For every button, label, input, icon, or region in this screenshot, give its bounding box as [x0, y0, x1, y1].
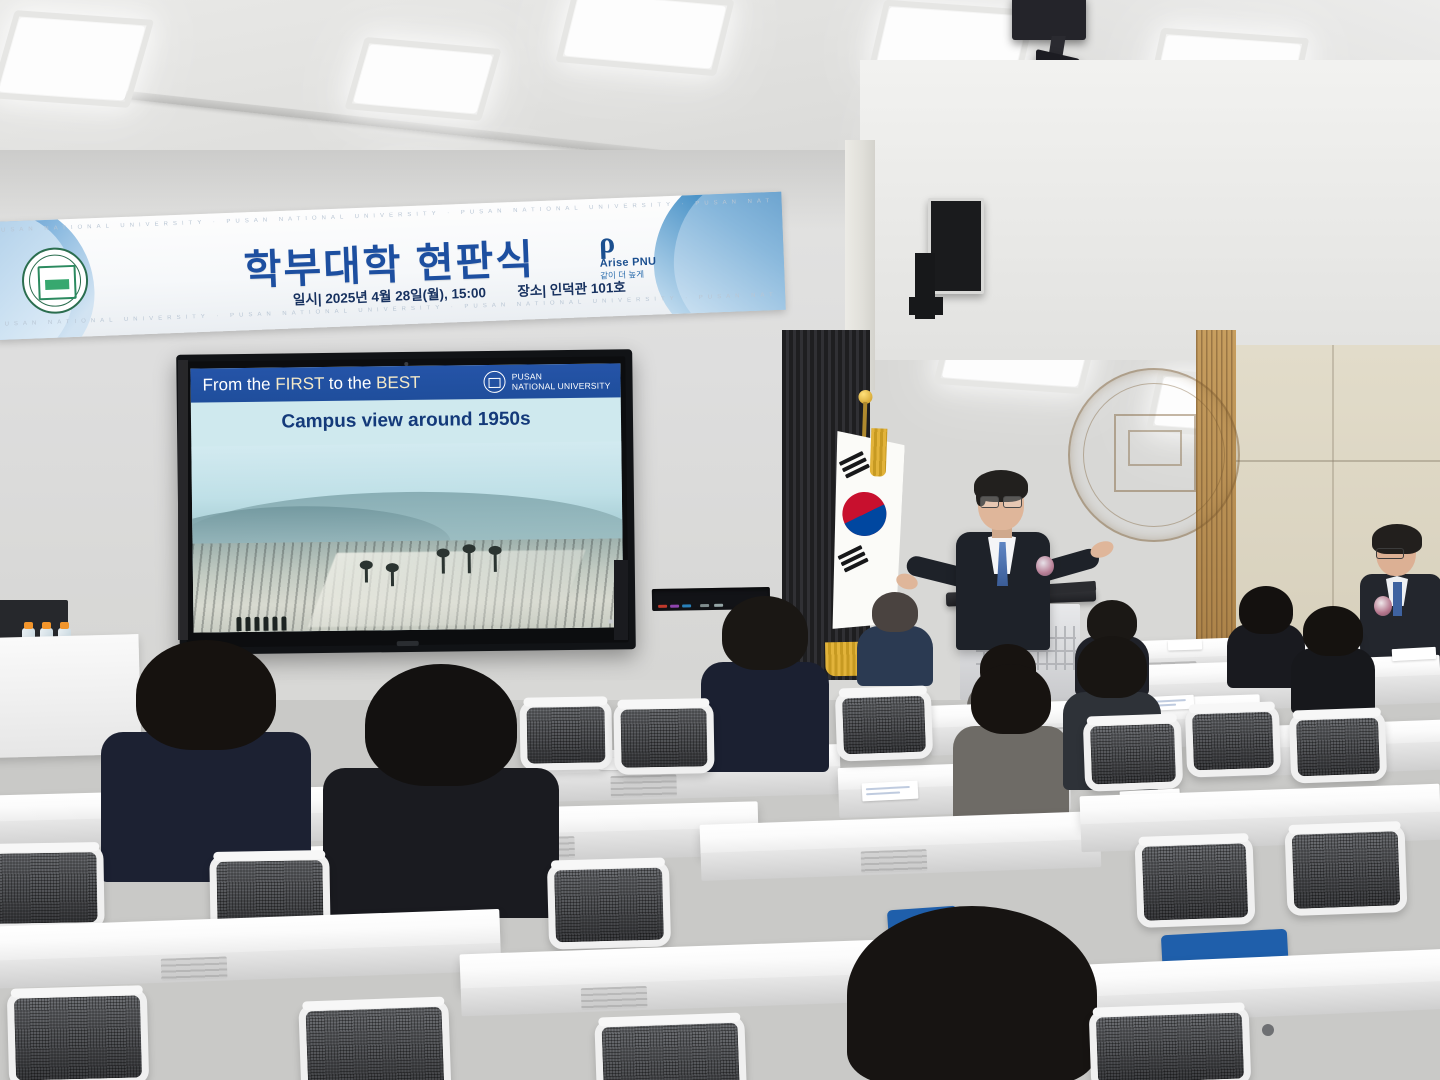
audience-hair — [722, 596, 808, 670]
speaker-bracket-base — [909, 297, 943, 315]
audience-member — [1290, 606, 1376, 710]
photo-tree — [365, 567, 368, 582]
desk-cable-module — [581, 986, 648, 1010]
mesh-back-chair[interactable] — [835, 688, 933, 761]
audience-member — [100, 640, 312, 870]
lecture-hall-photo: PUSAN NATIONAL UNIVERSITY · PUSAN NATION… — [0, 0, 1440, 1080]
chair-mesh — [1296, 718, 1380, 777]
slide-header-prefix: From the — [202, 375, 275, 395]
slide-photo — [191, 441, 623, 632]
slide-header-best: BEST — [376, 373, 421, 393]
mesh-back-chair[interactable] — [1083, 716, 1183, 791]
vip-glasses-icon — [1376, 548, 1404, 559]
display-side-mount — [178, 360, 188, 640]
photo-tree — [391, 571, 394, 587]
chair-back — [1285, 824, 1408, 916]
mesh-back-chair[interactable] — [7, 988, 149, 1080]
audience-hair — [365, 664, 517, 786]
mesh-back-chair[interactable] — [613, 701, 714, 775]
mesh-back-chair[interactable] — [1289, 710, 1387, 783]
chair-mesh — [0, 852, 98, 924]
university-name: PUSAN NATIONAL UNIVERSITY — [512, 370, 611, 391]
desk-paper — [862, 781, 919, 802]
banner-sep-1: | — [317, 291, 321, 306]
audience-member-foreground — [846, 906, 1098, 1080]
presenter-glasses-icon — [980, 496, 1022, 507]
chair-back — [1185, 704, 1281, 777]
flag-cord — [870, 428, 888, 477]
banner-date-label: 일시 — [293, 292, 318, 308]
chair-mesh — [1292, 831, 1401, 909]
chair-back — [613, 701, 714, 775]
chair-mesh — [1142, 843, 1249, 921]
audience-hair — [1239, 586, 1293, 634]
chair-mesh — [602, 1023, 741, 1080]
seal-mark — [37, 265, 76, 300]
chair-mesh — [14, 995, 142, 1080]
ceiling-light-panel — [564, 0, 726, 69]
desk-cable-module — [610, 774, 677, 798]
chair-back — [547, 860, 671, 949]
mesh-back-chair[interactable] — [298, 999, 451, 1080]
slide-header-bar: From the FIRST to the BEST PUSAN NATIONA… — [190, 363, 620, 402]
chair-mesh — [1090, 724, 1176, 785]
audience-member — [322, 664, 560, 904]
chair-back — [1135, 836, 1256, 928]
audience-hair — [1077, 636, 1147, 698]
presentation-display[interactable]: From the FIRST to the BEST PUSAN NATIONA… — [176, 349, 636, 655]
university-seal-icon — [484, 371, 506, 393]
flag-pole — [862, 402, 867, 442]
mesh-back-chair[interactable] — [547, 860, 671, 949]
chair-mesh — [306, 1007, 445, 1080]
chair-back — [1089, 1005, 1252, 1080]
photo-road — [307, 550, 586, 628]
slide-university-logo: PUSAN NATIONAL UNIVERSITY — [484, 369, 611, 393]
mesh-back-chair[interactable] — [594, 1015, 747, 1080]
audience-torso — [857, 626, 933, 686]
slide-title: Campus view around 1950s — [191, 407, 621, 434]
display-brand-logo — [397, 641, 419, 646]
ceiling-projector — [1012, 0, 1086, 40]
vip-corsage — [1374, 596, 1392, 616]
presenter-corsage — [1036, 556, 1054, 576]
photo-tree — [494, 553, 497, 572]
chair-back — [0, 845, 105, 931]
audience-member — [700, 596, 830, 768]
mesh-back-chair[interactable] — [1285, 824, 1408, 916]
audience-hair — [136, 640, 276, 750]
audience-hair — [872, 592, 918, 632]
photo-tree — [442, 555, 445, 573]
slide-header-middle: to the — [324, 373, 376, 393]
audience-torso — [1291, 648, 1375, 714]
audience-hair — [971, 664, 1051, 734]
banner-place-value: 인덕관 101호 — [550, 280, 626, 298]
chair-mesh — [554, 868, 664, 943]
desk-cable-module — [161, 956, 228, 980]
audience-hair — [1303, 606, 1363, 656]
mesh-back-chair[interactable] — [1135, 836, 1256, 928]
audience-hair — [847, 906, 1097, 1080]
mesh-back-chair[interactable] — [1089, 1005, 1252, 1080]
slide-header-first: FIRST — [275, 374, 324, 394]
seal-book-emblem — [1114, 414, 1196, 492]
arise-pnu-logo: ρ Arise PNU 같이 더 높게 — [599, 227, 697, 282]
chair-back — [1289, 710, 1387, 783]
audience-torso — [323, 768, 559, 918]
chair-back — [835, 688, 933, 761]
slide-header-text: From the FIRST to the BEST — [202, 373, 420, 396]
chair-caster — [1262, 1024, 1274, 1036]
banner-place-label: 장소 — [517, 283, 542, 299]
photo-people-group — [236, 616, 286, 631]
audience-member — [856, 592, 934, 682]
presentation-slide: From the FIRST to the BEST PUSAN NATIONA… — [190, 363, 623, 632]
desk-cable-module — [861, 849, 928, 873]
mesh-back-chair[interactable] — [1185, 704, 1281, 777]
photo-tree — [468, 551, 471, 573]
ceiling-light-panel — [0, 18, 145, 101]
banner-sep-2: | — [542, 283, 546, 298]
chair-back — [298, 999, 451, 1080]
ceiling-light-panel — [353, 44, 492, 113]
chair-mesh — [621, 708, 708, 767]
chair-mesh — [842, 696, 926, 755]
desk-paper — [1168, 639, 1202, 650]
chair-top-lip — [617, 698, 709, 709]
mesh-back-chair[interactable] — [0, 845, 105, 931]
vip-necktie — [1393, 582, 1402, 616]
chair-back — [1083, 716, 1183, 791]
audience-torso — [701, 662, 829, 772]
chair-mesh — [1192, 712, 1274, 771]
chair-mesh — [1096, 1012, 1244, 1080]
audience-member — [952, 664, 1070, 828]
chair-back — [7, 988, 149, 1080]
wall-conduit — [614, 560, 628, 640]
wall-speaker-icon — [928, 198, 984, 294]
university-line-2: NATIONAL UNIVERSITY — [512, 380, 611, 391]
arise-logo-mark: ρ — [599, 230, 616, 257]
desk-paper — [1392, 647, 1437, 661]
